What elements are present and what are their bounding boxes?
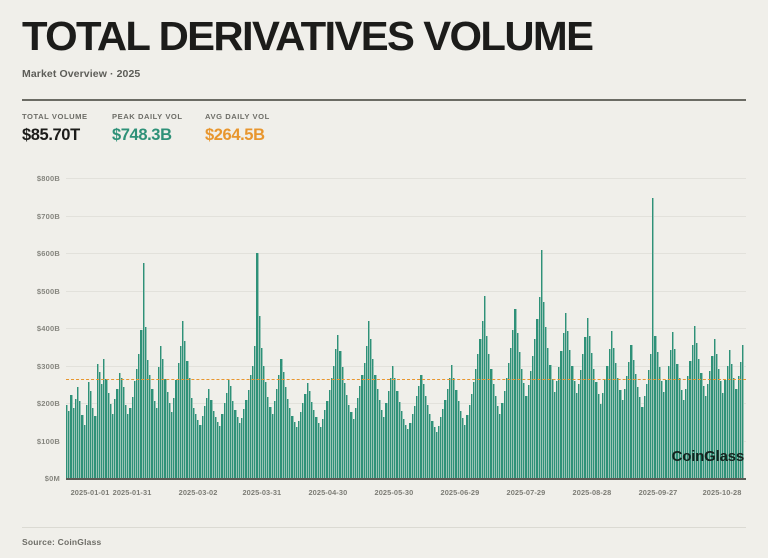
y-axis-tick-label: $600B bbox=[0, 249, 60, 258]
stat-peak-daily-vol-label: PEAK DAILY VOL bbox=[112, 112, 205, 121]
x-axis-ticks: 2025-01-012025-01-312025-03-022025-03-31… bbox=[66, 488, 746, 504]
x-axis-tick-label: 2025-03-02 bbox=[179, 488, 218, 497]
watermark: CoinGlass bbox=[672, 448, 744, 465]
stat-peak-daily-vol-value: $748.3B bbox=[112, 126, 205, 145]
x-axis-baseline bbox=[66, 478, 746, 480]
x-axis-tick-label: 2025-06-29 bbox=[441, 488, 480, 497]
x-axis-tick-label: 2025-04-30 bbox=[308, 488, 347, 497]
bar-series bbox=[66, 178, 746, 478]
x-axis-tick-label: 2025-01-01 bbox=[71, 488, 110, 497]
stat-avg-daily-vol-value: $264.5B bbox=[205, 126, 325, 145]
y-axis-tick-label: $800B bbox=[0, 174, 60, 183]
x-axis-tick-label: 2025-09-27 bbox=[639, 488, 678, 497]
stats-row: TOTAL VOLUME $85.70T PEAK DAILY VOL $748… bbox=[22, 112, 325, 145]
y-axis-tick-label: $400B bbox=[0, 324, 60, 333]
source-note: Source: CoinGlass bbox=[22, 537, 101, 547]
stat-avg-daily-vol: AVG DAILY VOL $264.5B bbox=[205, 112, 325, 145]
x-axis-tick-label: 2025-03-31 bbox=[242, 488, 281, 497]
stat-total-volume: TOTAL VOLUME $85.70T bbox=[22, 112, 112, 145]
page-title: TOTAL DERIVATIVES VOLUME bbox=[22, 14, 760, 58]
chart-container: $800B$700B$600B$500B$400B$300B$200B$100B… bbox=[0, 160, 768, 505]
x-axis-tick-label: 2025-05-30 bbox=[374, 488, 413, 497]
header: TOTAL DERIVATIVES VOLUME Market Overview… bbox=[22, 14, 746, 80]
plot-area bbox=[66, 178, 746, 478]
chart-page: TOTAL DERIVATIVES VOLUME Market Overview… bbox=[0, 0, 768, 558]
x-axis-tick-label: 2025-08-28 bbox=[573, 488, 612, 497]
footer-divider bbox=[22, 527, 746, 528]
y-axis-tick-label: $200B bbox=[0, 399, 60, 408]
y-axis-tick-label: $300B bbox=[0, 362, 60, 371]
stat-peak-daily-vol: PEAK DAILY VOL $748.3B bbox=[112, 112, 205, 145]
x-axis-tick-label: 2025-07-29 bbox=[507, 488, 546, 497]
x-axis-tick-label: 2025-01-31 bbox=[113, 488, 152, 497]
header-divider bbox=[22, 99, 746, 101]
y-axis-tick-label: $500B bbox=[0, 287, 60, 296]
stat-avg-daily-vol-label: AVG DAILY VOL bbox=[205, 112, 325, 121]
y-axis-tick-label: $700B bbox=[0, 212, 60, 221]
page-subtitle: Market Overview · 2025 bbox=[22, 68, 746, 80]
stat-total-volume-value: $85.70T bbox=[22, 126, 112, 145]
average-line bbox=[66, 379, 746, 380]
x-axis-tick-label: 2025-10-28 bbox=[703, 488, 742, 497]
y-axis-tick-label: $100B bbox=[0, 437, 60, 446]
y-axis-tick-label: $0M bbox=[0, 474, 60, 483]
stat-total-volume-label: TOTAL VOLUME bbox=[22, 112, 112, 121]
